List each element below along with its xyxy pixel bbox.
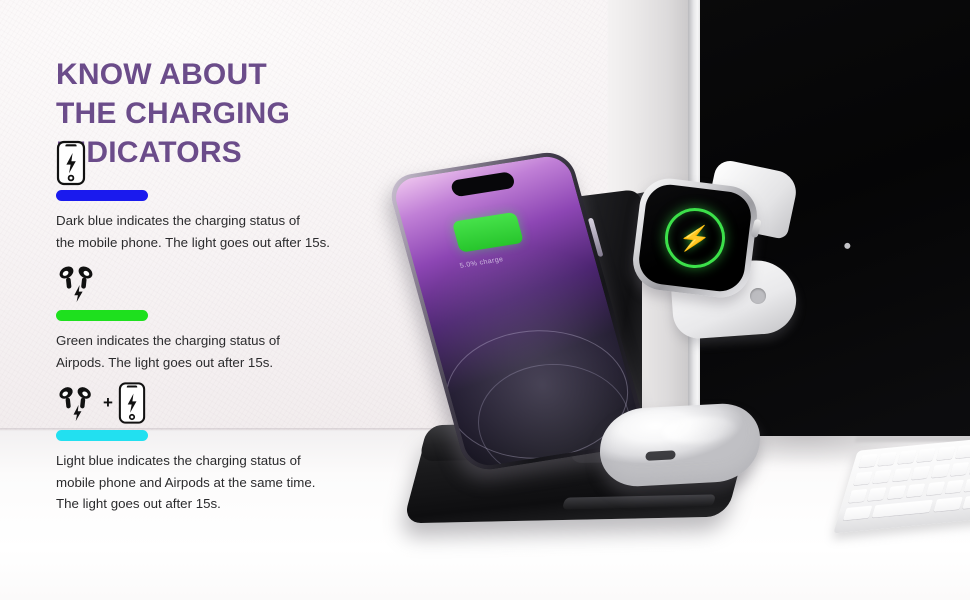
keyboard-key bbox=[878, 452, 898, 466]
watch-band-hole bbox=[750, 288, 766, 304]
indicator-description: Light blue indicates the charging status… bbox=[56, 450, 456, 515]
keyboard-key bbox=[950, 462, 970, 476]
plus-icon: + bbox=[103, 393, 113, 413]
keyboard-key bbox=[843, 506, 873, 521]
indicator-icon-row bbox=[56, 258, 456, 308]
indicator-description: Dark blue indicates the charging status … bbox=[56, 210, 456, 253]
airpods-charging-icon bbox=[56, 260, 102, 306]
status-bar-light-blue bbox=[56, 430, 148, 441]
indicator-icon-row bbox=[56, 138, 456, 188]
airpods-case-hinge bbox=[645, 450, 675, 461]
keyboard-key bbox=[964, 478, 970, 492]
indicator-description: Green indicates the charging status of A… bbox=[56, 330, 456, 373]
info-panel: KNOW ABOUT THE CHARGING INDICATORS Dark … bbox=[0, 0, 470, 600]
keyboard-key bbox=[897, 450, 917, 464]
indicator-icon-row: + bbox=[56, 378, 456, 428]
keyboard-key bbox=[925, 482, 945, 496]
indicator-item-dark-blue: Dark blue indicates the charging status … bbox=[56, 138, 456, 253]
airpods-case bbox=[598, 402, 762, 489]
keyboard-key bbox=[930, 464, 950, 478]
watch-case: ⚡ bbox=[630, 175, 761, 301]
lightning-bolt-icon: ⚡ bbox=[677, 223, 712, 253]
keyboard-key bbox=[911, 466, 931, 480]
status-bar-dark-blue bbox=[56, 190, 148, 201]
keyboard-key bbox=[945, 480, 965, 494]
status-bar-green bbox=[56, 310, 148, 321]
keyboard-key bbox=[853, 471, 873, 485]
indicator-item-green: Green indicates the charging status of A… bbox=[56, 258, 456, 373]
keyboard-key bbox=[936, 446, 956, 460]
keyboard-spacebar bbox=[872, 500, 933, 518]
keyboard-key bbox=[906, 483, 926, 497]
watch-screen: ⚡ bbox=[636, 182, 753, 294]
keyboard-key bbox=[848, 489, 868, 503]
keyboard-key bbox=[955, 445, 970, 459]
phone-charging-icon bbox=[118, 381, 146, 425]
keyboard-key bbox=[858, 454, 878, 468]
keyboard-key bbox=[962, 495, 970, 509]
phone-charging-icon bbox=[56, 140, 86, 186]
page-title-line-1: KNOW ABOUT bbox=[56, 55, 476, 94]
keyboard-key bbox=[887, 485, 907, 499]
airpods-charging-icon bbox=[56, 381, 100, 425]
keyboard-key bbox=[892, 468, 912, 482]
indicator-item-light-blue: + Light blue indicates the charging stat… bbox=[56, 378, 456, 515]
keyboard-key bbox=[916, 448, 936, 462]
airpods-case-highlight bbox=[662, 415, 737, 445]
keyboard-key bbox=[873, 470, 893, 484]
keyboard-key bbox=[867, 487, 887, 501]
apple-watch: ⚡ bbox=[628, 176, 804, 326]
keyboard-key bbox=[933, 497, 963, 512]
